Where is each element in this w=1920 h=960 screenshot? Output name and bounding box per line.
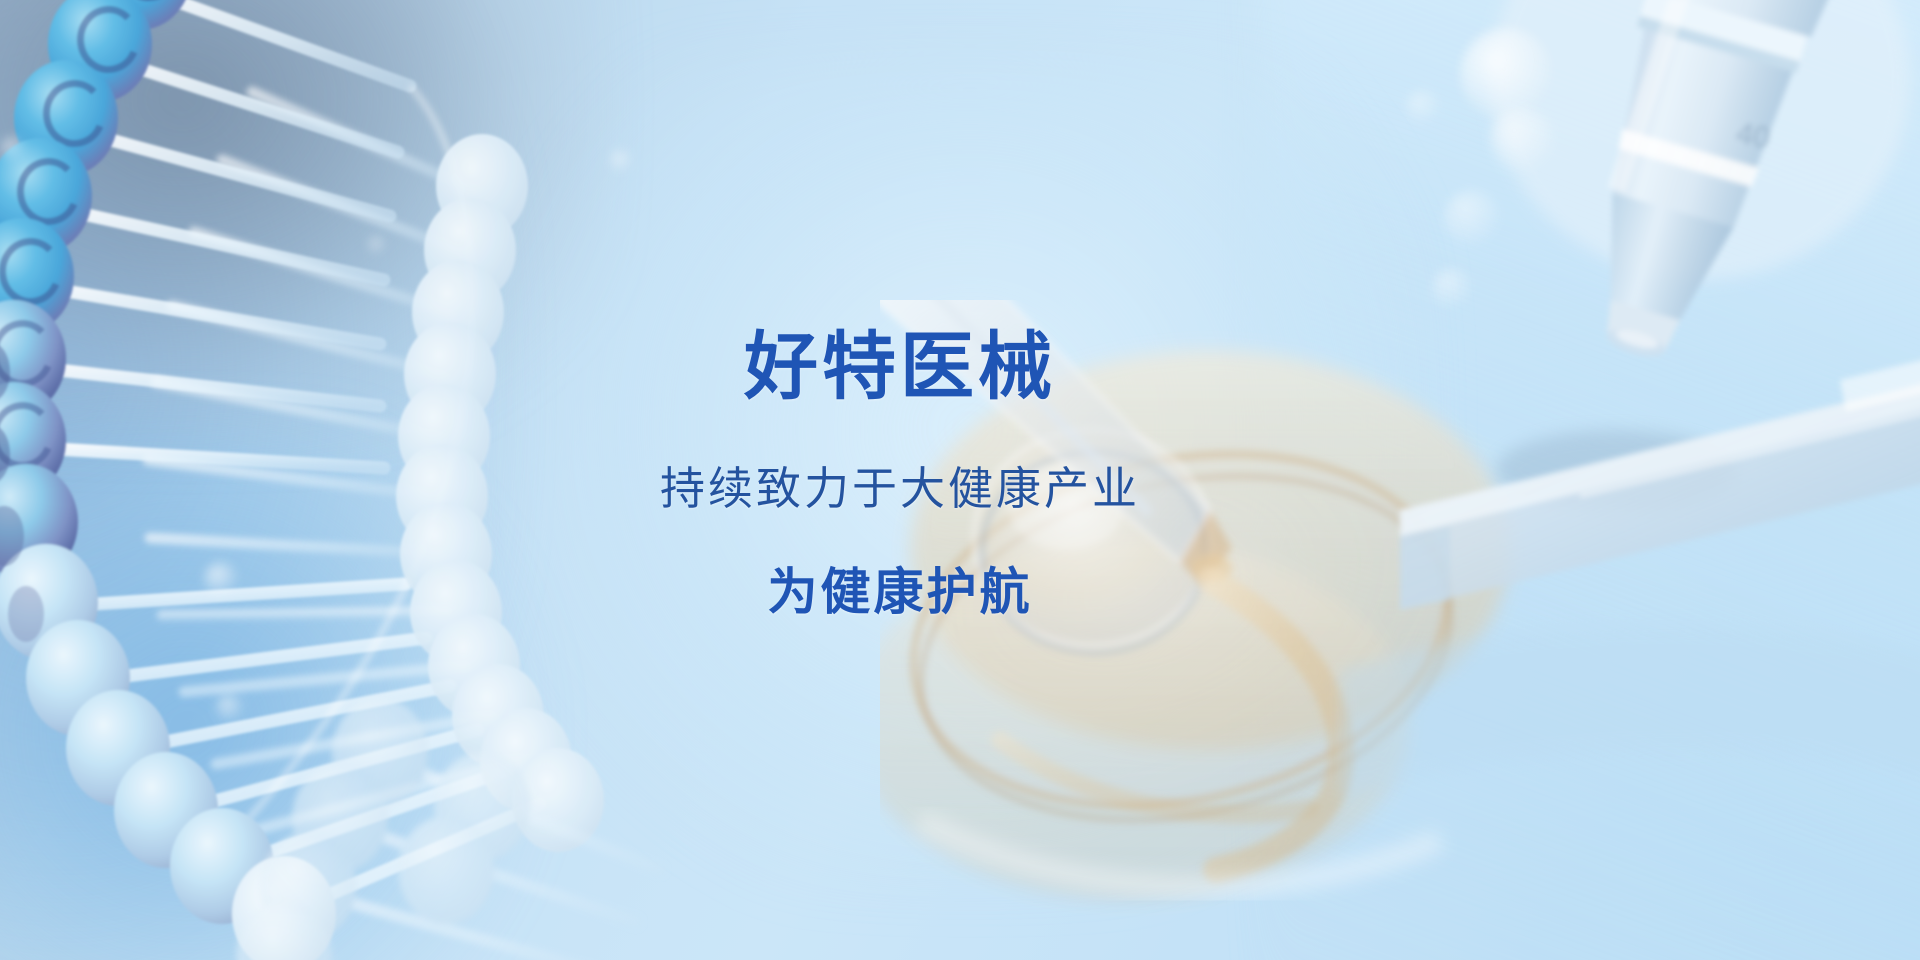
bokeh-dot [610, 150, 632, 172]
page-title: 好特医械 [500, 330, 1300, 404]
bokeh-dot [0, 136, 26, 162]
bokeh-dot [1490, 108, 1554, 172]
bokeh-dot [1460, 28, 1552, 120]
hero-copy-block: 好特医械 持续致力于大健康产业 为健康护航 [500, 330, 1300, 617]
microscope-icon: 40 [1280, 0, 1920, 960]
bokeh-dot [1444, 190, 1500, 246]
bokeh-dot [1432, 268, 1472, 308]
bokeh-dot [216, 694, 244, 722]
hero-subtitle: 持续致力于大健康产业 [500, 466, 1300, 511]
objective-magnification-label: 40 [1734, 117, 1773, 155]
hero-slogan: 为健康护航 [500, 567, 1300, 617]
hero-banner: 40 [0, 0, 1920, 960]
bokeh-dot [368, 236, 386, 254]
bokeh-dot [1406, 90, 1440, 124]
bokeh-dot [204, 562, 238, 596]
